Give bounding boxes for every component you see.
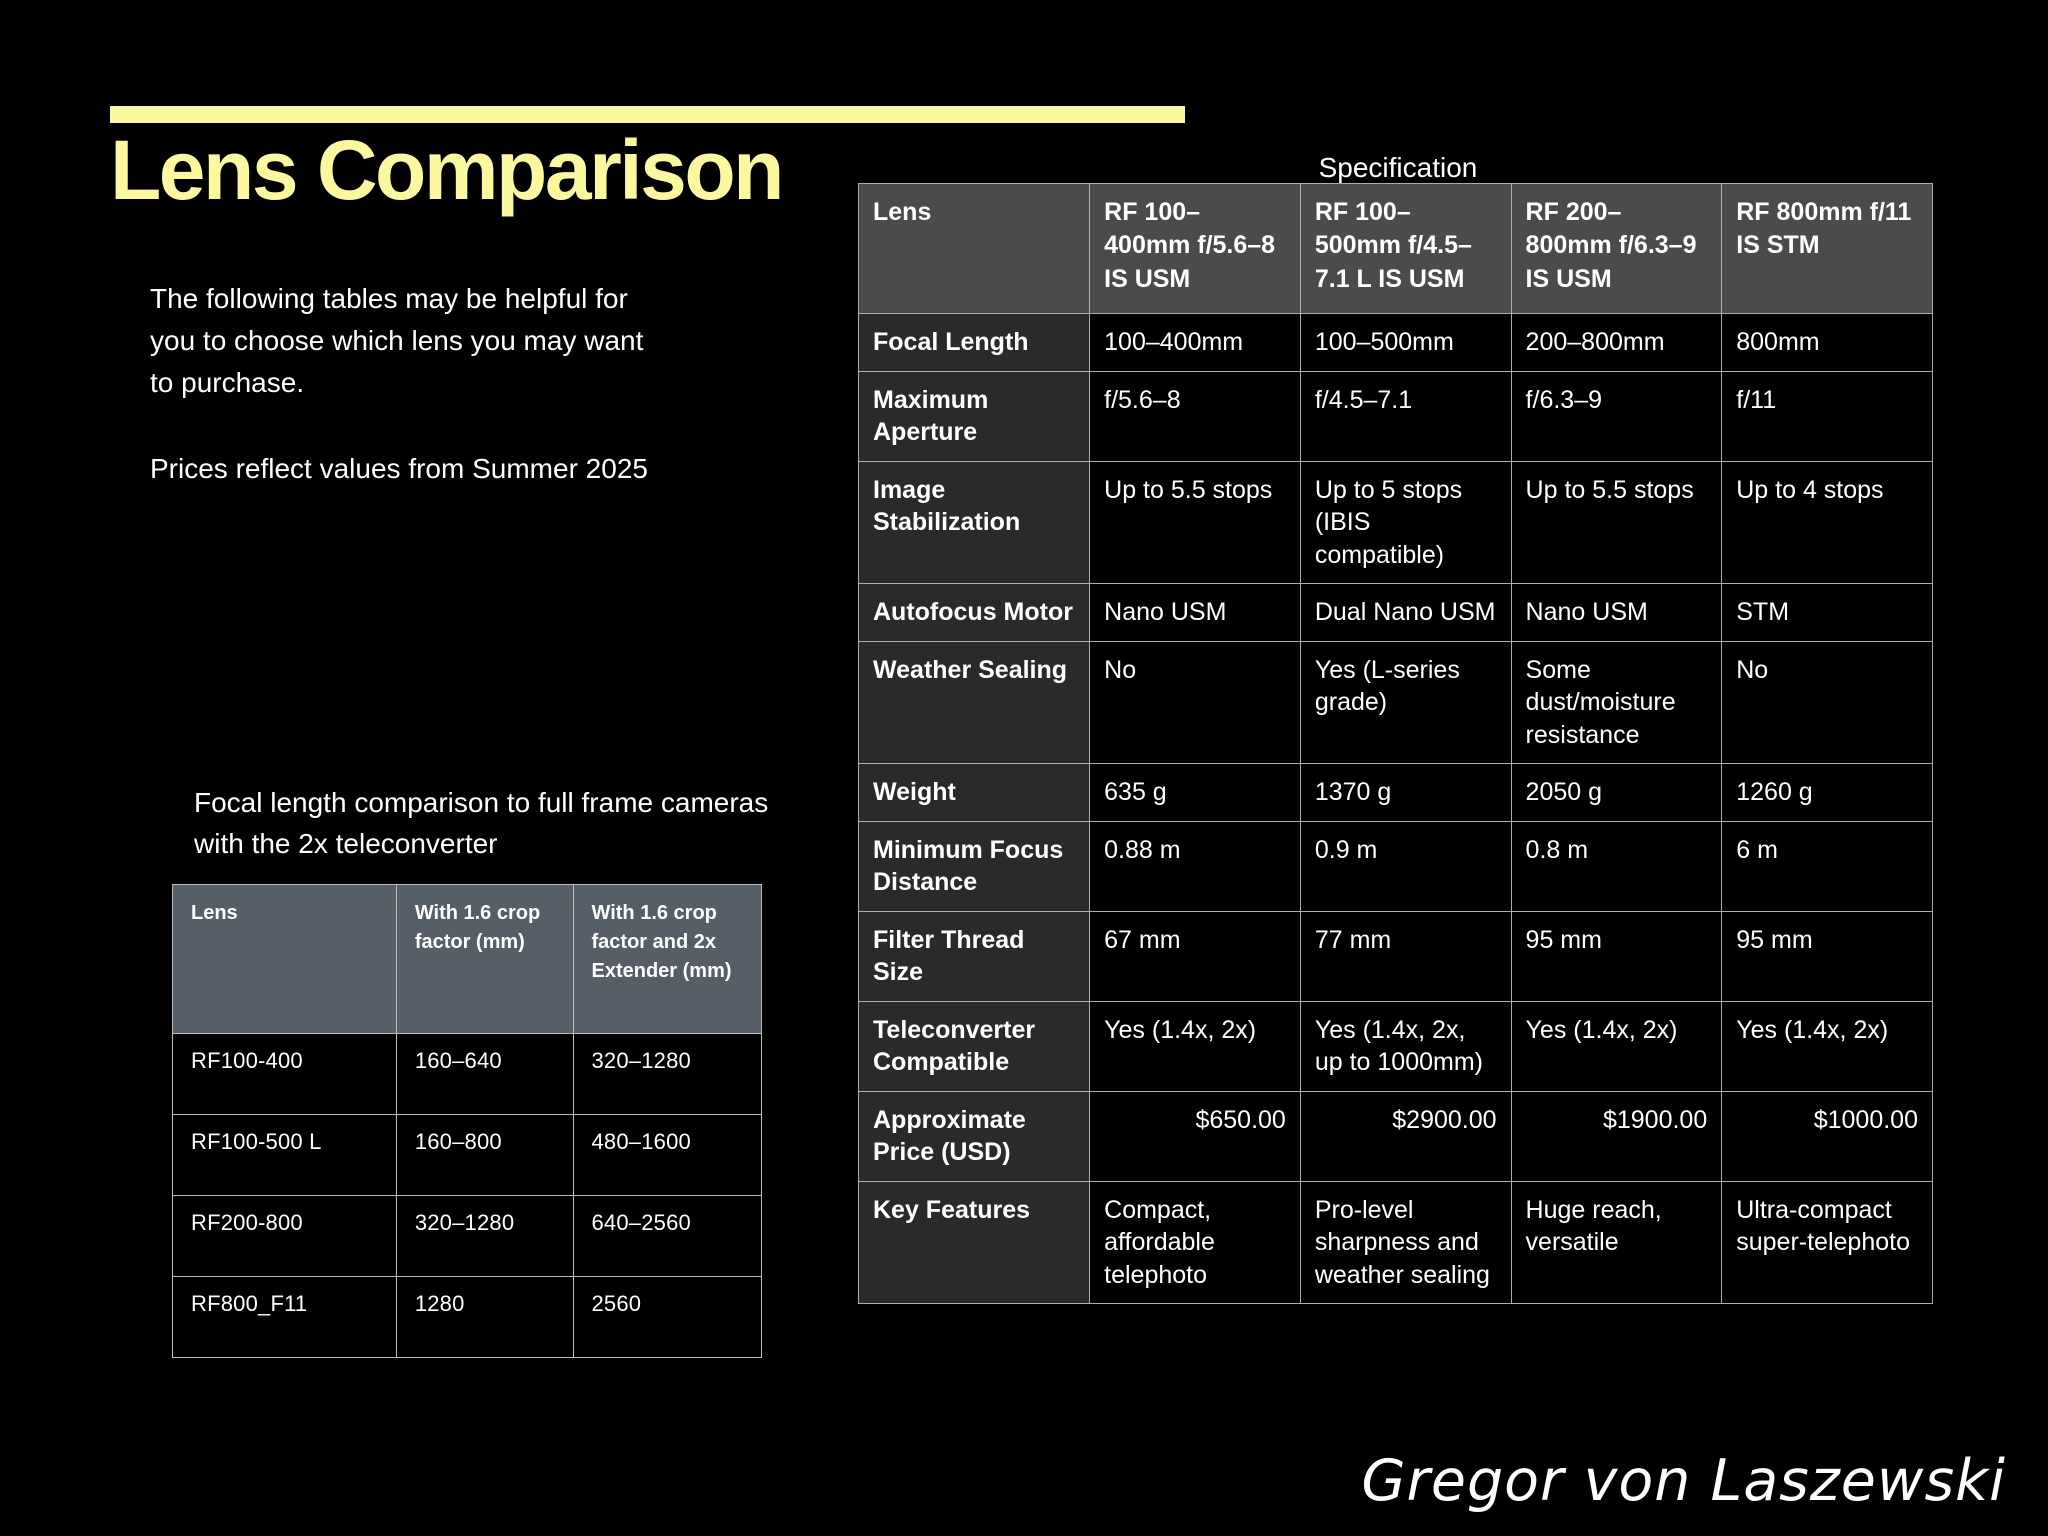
intro-paragraph-1: The following tables may be helpful for … [150,278,670,404]
spec-cell: Nano USM [1511,584,1722,642]
table-row: Key FeaturesCompact, affordable telephot… [859,1181,1933,1304]
spec-cell: No [1090,641,1301,764]
spec-cell: Yes (L-series grade) [1300,641,1511,764]
spec-cell: Some dust/moisture resistance [1511,641,1722,764]
spec-cell: $2900.00 [1300,1091,1511,1181]
title-accent-rule [110,106,1185,123]
spec-cell: Huge reach, versatile [1511,1181,1722,1304]
intro-text-block: The following tables may be helpful for … [150,278,670,490]
focal-cell: 320–1280 [573,1034,762,1115]
spec-cell: 67 mm [1090,911,1301,1001]
spec-cell: No [1722,641,1933,764]
spec-row-label: Autofocus Motor [859,584,1090,642]
author-signature: Gregor von Laszewski [1361,1448,2006,1514]
spec-cell: STM [1722,584,1933,642]
spec-row-label: Minimum Focus Distance [859,821,1090,911]
spec-table-header-row: LensRF 100–400mm f/5.6–8 IS USMRF 100–50… [859,184,1933,314]
spec-cell: Yes (1.4x, 2x) [1722,1001,1933,1091]
table-row: Filter Thread Size67 mm77 mm95 mm95 mm [859,911,1933,1001]
left-panel: Lens Comparison The following tables may… [0,0,860,1536]
table-row: Focal Length100–400mm100–500mm200–800mm8… [859,314,1933,372]
intro-paragraph-2: Prices reflect values from Summer 2025 [150,448,670,490]
spec-cell: 2050 g [1511,764,1722,822]
spec-cell: Nano USM [1090,584,1301,642]
spec-cell: f/5.6–8 [1090,371,1301,461]
spec-cell: Yes (1.4x, 2x) [1090,1001,1301,1091]
spec-cell: 6 m [1722,821,1933,911]
intro-spacer [150,404,670,448]
spec-table-head: LensRF 100–400mm f/5.6–8 IS USMRF 100–50… [859,184,1933,314]
table-row: Image StabilizationUp to 5.5 stopsUp to … [859,461,1933,584]
focal-cell: 160–800 [396,1115,573,1196]
specification-label: Specification [858,152,1938,184]
spec-cell: Up to 4 stops [1722,461,1933,584]
focal-cell: 1280 [396,1277,573,1358]
spec-cell: f/4.5–7.1 [1300,371,1511,461]
spec-cell: Up to 5.5 stops [1511,461,1722,584]
table-row: Minimum Focus Distance0.88 m0.9 m0.8 m6 … [859,821,1933,911]
spec-cell: 0.88 m [1090,821,1301,911]
spec-col-header-4: RF 800mm f/11 IS STM [1722,184,1933,314]
spec-col-header-1: RF 100–400mm f/5.6–8 IS USM [1090,184,1301,314]
spec-cell: 0.9 m [1300,821,1511,911]
table-row: Teleconverter CompatibleYes (1.4x, 2x)Ye… [859,1001,1933,1091]
spec-row-label: Teleconverter Compatible [859,1001,1090,1091]
focal-table-header-row: Lens With 1.6 crop factor (mm) With 1.6 … [173,885,762,1034]
spec-table-container: LensRF 100–400mm f/5.6–8 IS USMRF 100–50… [858,183,1933,1304]
focal-table-caption: Focal length comparison to full frame ca… [194,783,794,864]
spec-row-label: Focal Length [859,314,1090,372]
spec-row-label: Image Stabilization [859,461,1090,584]
focal-cell: RF100-500 L [173,1115,397,1196]
spec-cell: 200–800mm [1511,314,1722,372]
focal-cell: RF200-800 [173,1196,397,1277]
focal-col-header-crop-extender: With 1.6 crop factor and 2x Extender (mm… [573,885,762,1034]
spec-cell: Yes (1.4x, 2x) [1511,1001,1722,1091]
focal-table-container: Lens With 1.6 crop factor (mm) With 1.6 … [172,884,762,1358]
spec-col-header-2: RF 100–500mm f/4.5–7.1 L IS USM [1300,184,1511,314]
specification-table: LensRF 100–400mm f/5.6–8 IS USMRF 100–50… [858,183,1933,1304]
spec-cell: 1370 g [1300,764,1511,822]
table-row: RF200-800320–1280640–2560 [173,1196,762,1277]
spec-cell: f/11 [1722,371,1933,461]
spec-row-label: Approximate Price (USD) [859,1091,1090,1181]
spec-row-label: Maximum Aperture [859,371,1090,461]
spec-cell: Up to 5 stops (IBIS compatible) [1300,461,1511,584]
table-row: Maximum Aperturef/5.6–8f/4.5–7.1f/6.3–9f… [859,371,1933,461]
spec-row-label: Filter Thread Size [859,911,1090,1001]
spec-cell: $1900.00 [1511,1091,1722,1181]
table-row: RF100-500 L160–800480–1600 [173,1115,762,1196]
spec-cell: 100–400mm [1090,314,1301,372]
spec-cell: 1260 g [1722,764,1933,822]
spec-row-label: Weight [859,764,1090,822]
spec-cell: 800mm [1722,314,1933,372]
focal-cell: 640–2560 [573,1196,762,1277]
spec-cell: 95 mm [1511,911,1722,1001]
table-row: RF100-400160–640320–1280 [173,1034,762,1115]
page-title: Lens Comparison [110,126,782,214]
spec-cell: Ultra-compact super-telephoto [1722,1181,1933,1304]
focal-cell: 320–1280 [396,1196,573,1277]
spec-cell: $1000.00 [1722,1091,1933,1181]
table-row: Approximate Price (USD)$650.00$2900.00$1… [859,1091,1933,1181]
spec-cell: Up to 5.5 stops [1090,461,1301,584]
spec-cell: 100–500mm [1300,314,1511,372]
focal-table-head: Lens With 1.6 crop factor (mm) With 1.6 … [173,885,762,1034]
focal-cell: RF100-400 [173,1034,397,1115]
table-row: RF800_F1112802560 [173,1277,762,1358]
table-row: Weather SealingNoYes (L-series grade)Som… [859,641,1933,764]
spec-cell: 635 g [1090,764,1301,822]
spec-cell: Pro-level sharpness and weather sealing [1300,1181,1511,1304]
spec-col-header-3: RF 200–800mm f/6.3–9 IS USM [1511,184,1722,314]
spec-cell: Dual Nano USM [1300,584,1511,642]
focal-col-header-lens: Lens [173,885,397,1034]
spec-cell: 0.8 m [1511,821,1722,911]
focal-cell: RF800_F11 [173,1277,397,1358]
spec-row-label: Key Features [859,1181,1090,1304]
focal-cell: 480–1600 [573,1115,762,1196]
spec-cell: 77 mm [1300,911,1511,1001]
spec-cell: Compact, affordable telephoto [1090,1181,1301,1304]
spec-cell: f/6.3–9 [1511,371,1722,461]
spec-col-header-0: Lens [859,184,1090,314]
spec-cell: 95 mm [1722,911,1933,1001]
spec-row-label: Weather Sealing [859,641,1090,764]
focal-length-table: Lens With 1.6 crop factor (mm) With 1.6 … [172,884,762,1358]
table-row: Weight635 g1370 g2050 g1260 g [859,764,1933,822]
spec-table-body: Focal Length100–400mm100–500mm200–800mm8… [859,314,1933,1304]
spec-cell: Yes (1.4x, 2x, up to 1000mm) [1300,1001,1511,1091]
focal-col-header-crop: With 1.6 crop factor (mm) [396,885,573,1034]
focal-table-body: RF100-400160–640320–1280RF100-500 L160–8… [173,1034,762,1358]
focal-cell: 160–640 [396,1034,573,1115]
spec-cell: $650.00 [1090,1091,1301,1181]
focal-cell: 2560 [573,1277,762,1358]
table-row: Autofocus MotorNano USMDual Nano USMNano… [859,584,1933,642]
